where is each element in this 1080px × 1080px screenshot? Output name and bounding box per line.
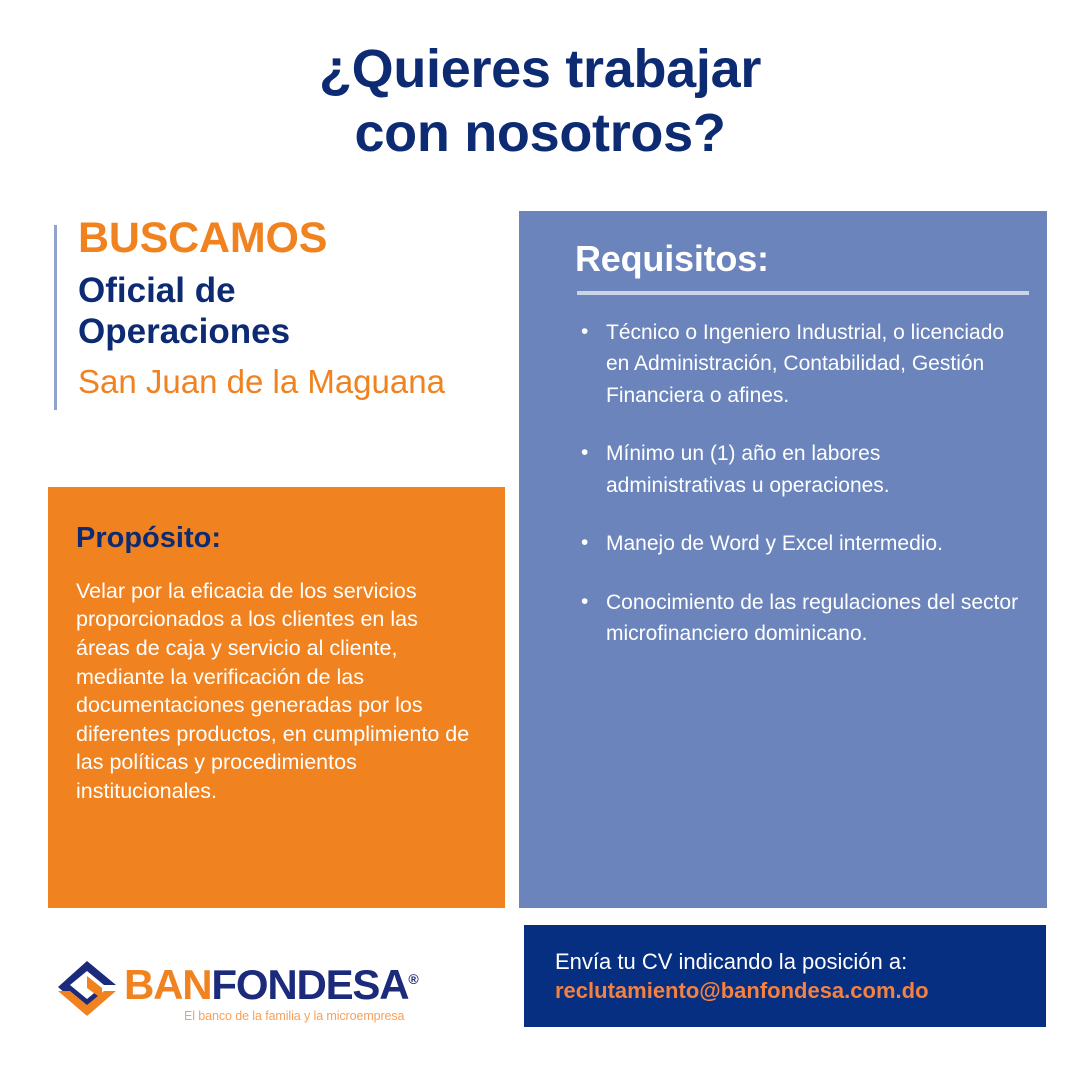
requirements-divider bbox=[577, 291, 1029, 295]
list-item: Técnico o Ingeniero Industrial, o licenc… bbox=[575, 317, 1023, 412]
headline-line-1: ¿Quieres trabajar bbox=[0, 38, 1080, 102]
wordmark-fondesa: FONDESA bbox=[211, 961, 408, 1008]
requirements-heading: Requisitos: bbox=[575, 239, 1023, 279]
poster-headline: ¿Quieres trabajar con nosotros? bbox=[0, 38, 1080, 165]
vacancy-block: BUSCAMOS Oficial de Operaciones San Juan… bbox=[54, 216, 524, 402]
registered-trademark-icon: ® bbox=[408, 971, 418, 987]
recruitment-email[interactable]: reclutamiento@banfondesa.com.do bbox=[555, 977, 1026, 1005]
purpose-heading: Propósito: bbox=[76, 523, 471, 555]
position-location: San Juan de la Maguana bbox=[78, 362, 524, 402]
purpose-text: Velar por la eficacia de los servicios p… bbox=[76, 577, 471, 806]
job-posting-poster: ¿Quieres trabajar con nosotros? BUSCAMOS… bbox=[0, 0, 1080, 1080]
position-title: Oficial de Operaciones bbox=[78, 271, 338, 353]
banfondesa-logo: BANFONDESA® El banco de la familia y la … bbox=[56, 958, 396, 1036]
list-item: Conocimiento de las regulaciones del sec… bbox=[575, 587, 1023, 650]
banfondesa-diamond-icon bbox=[56, 960, 118, 1018]
purpose-box: Propósito: Velar por la eficacia de los … bbox=[48, 487, 505, 908]
cv-call-to-action-bar: Envía tu CV indicando la posición a: rec… bbox=[524, 925, 1046, 1027]
requirements-panel: Requisitos: Técnico o Ingeniero Industri… bbox=[519, 211, 1047, 908]
headline-line-2: con nosotros? bbox=[0, 102, 1080, 166]
looking-for-label: BUSCAMOS bbox=[78, 216, 524, 261]
wordmark-ban: BAN bbox=[124, 961, 211, 1008]
list-item: Mínimo un (1) año en labores administrat… bbox=[575, 438, 1023, 501]
banfondesa-wordmark: BANFONDESA® bbox=[124, 964, 419, 1006]
requirements-list: Técnico o Ingeniero Industrial, o licenc… bbox=[575, 317, 1023, 650]
logo-tagline: El banco de la familia y la microempresa bbox=[184, 1009, 404, 1023]
vertical-accent-rule bbox=[54, 225, 57, 410]
list-item: Manejo de Word y Excel intermedio. bbox=[575, 528, 1023, 560]
cv-instruction-text: Envía tu CV indicando la posición a: bbox=[555, 948, 1026, 976]
